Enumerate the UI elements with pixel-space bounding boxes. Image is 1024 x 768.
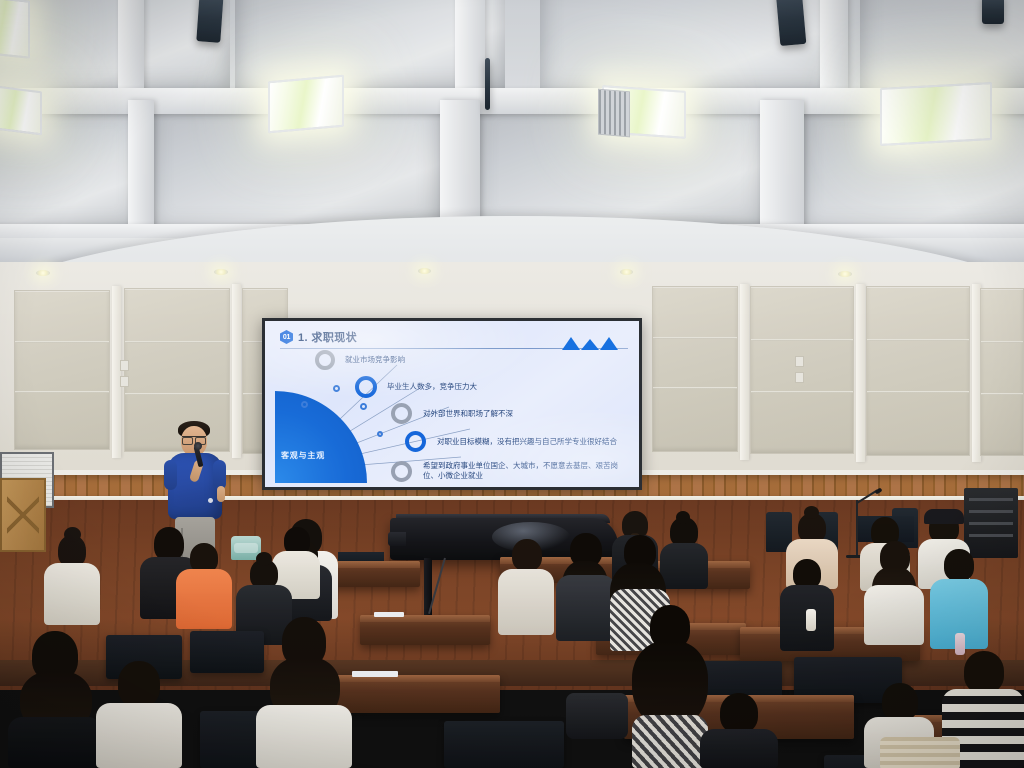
acoustic-panel (14, 290, 110, 450)
slide-title: 1. 求职现状 (298, 329, 357, 345)
seat-back (444, 721, 564, 768)
shirt-logo (208, 498, 213, 503)
fan-quadrant (275, 391, 367, 483)
bullet-marker-3 (391, 403, 412, 424)
microphone-head (194, 442, 202, 450)
tote-bag (880, 737, 960, 768)
spoke-node-small (360, 403, 367, 410)
audience-person (864, 541, 924, 645)
audience-person (96, 661, 182, 768)
acoustic-panel (980, 288, 1024, 456)
ceiling-speaker (196, 0, 223, 43)
wall-outlet-plate[interactable] (795, 372, 804, 383)
wall-switch-plate[interactable] (120, 360, 129, 371)
ceiling-speaker (982, 0, 1004, 24)
audience-person (700, 693, 778, 768)
glasses-icon (182, 436, 206, 442)
acoustic-panel (652, 286, 738, 452)
wall-outlet-plate[interactable] (120, 376, 129, 387)
audience-area (0, 505, 1024, 768)
section-number-badge: 01 (280, 330, 293, 344)
bullet-marker-2 (355, 376, 377, 398)
bullet-text-3: 对外部世界和职场了解不深 (423, 409, 513, 419)
ceiling-speaker (776, 0, 807, 46)
projection-screen: 01 1. 求职现状 客观与主观 (262, 318, 642, 490)
ceiling-light-fixture (880, 82, 992, 146)
water-bottle (955, 633, 965, 655)
audience-person (256, 617, 352, 768)
acoustic-panel (866, 286, 970, 456)
presentation-slide: 01 1. 求职现状 客观与主观 (265, 321, 639, 487)
ceiling-light-fixture (0, 85, 42, 136)
bullet-marker-4 (405, 431, 426, 452)
desk-row (330, 675, 500, 713)
ceiling-conduit (485, 58, 490, 110)
bullet-marker-1 (315, 350, 335, 370)
bullet-text-5: 希望到政府事业单位国企、大城市，不愿意去基层、艰苦岗位、小微企业就业 (423, 461, 623, 481)
cap-icon (924, 509, 964, 524)
spoke-node-small (377, 431, 383, 437)
bullet-text-1: 就业市场竞争影响 (345, 355, 405, 365)
bullet-text-4: 对职业目标模糊，没有把兴趣与自己所学专业很好结合 (437, 437, 617, 447)
auditorium-photo: 01 1. 求职现状 客观与主观 (0, 0, 1024, 768)
audience-person (498, 539, 554, 635)
audience-person (8, 631, 102, 768)
ceiling-light-fixture (0, 0, 30, 59)
ceiling-vent-grill (598, 89, 630, 138)
audience-person (176, 543, 232, 629)
wall-switch-plate[interactable] (795, 356, 804, 367)
slide-header: 01 1. 求职现状 (280, 329, 357, 345)
spoke-node-small (301, 401, 308, 408)
fan-quadrant-label: 客观与主观 (281, 450, 325, 461)
backpack (566, 693, 628, 739)
ceiling (0, 0, 1024, 268)
audience-person (42, 535, 102, 625)
ceiling-light-fixture (268, 75, 344, 134)
bullet-text-2: 毕业生人数多，竞争压力大 (387, 382, 477, 392)
water-bottle (806, 609, 816, 631)
mountain-decoration-icon (559, 335, 621, 350)
desk-row (360, 615, 490, 645)
spoke-node-small (333, 385, 340, 392)
acoustic-panel (750, 286, 854, 454)
audience-person (780, 559, 834, 651)
bullet-marker-5 (391, 461, 412, 482)
seat-back (190, 631, 264, 673)
